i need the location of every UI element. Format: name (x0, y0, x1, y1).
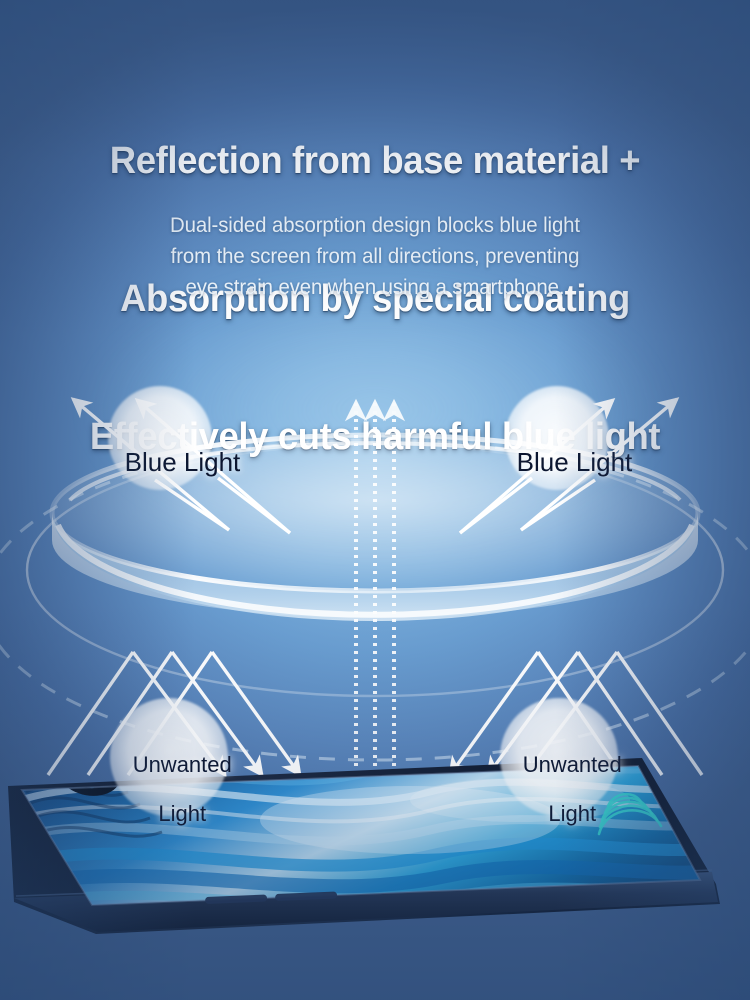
background-vignette (0, 0, 750, 1000)
blue-light-filter-infographic: Reflection from base material + Absorpti… (0, 0, 750, 1000)
